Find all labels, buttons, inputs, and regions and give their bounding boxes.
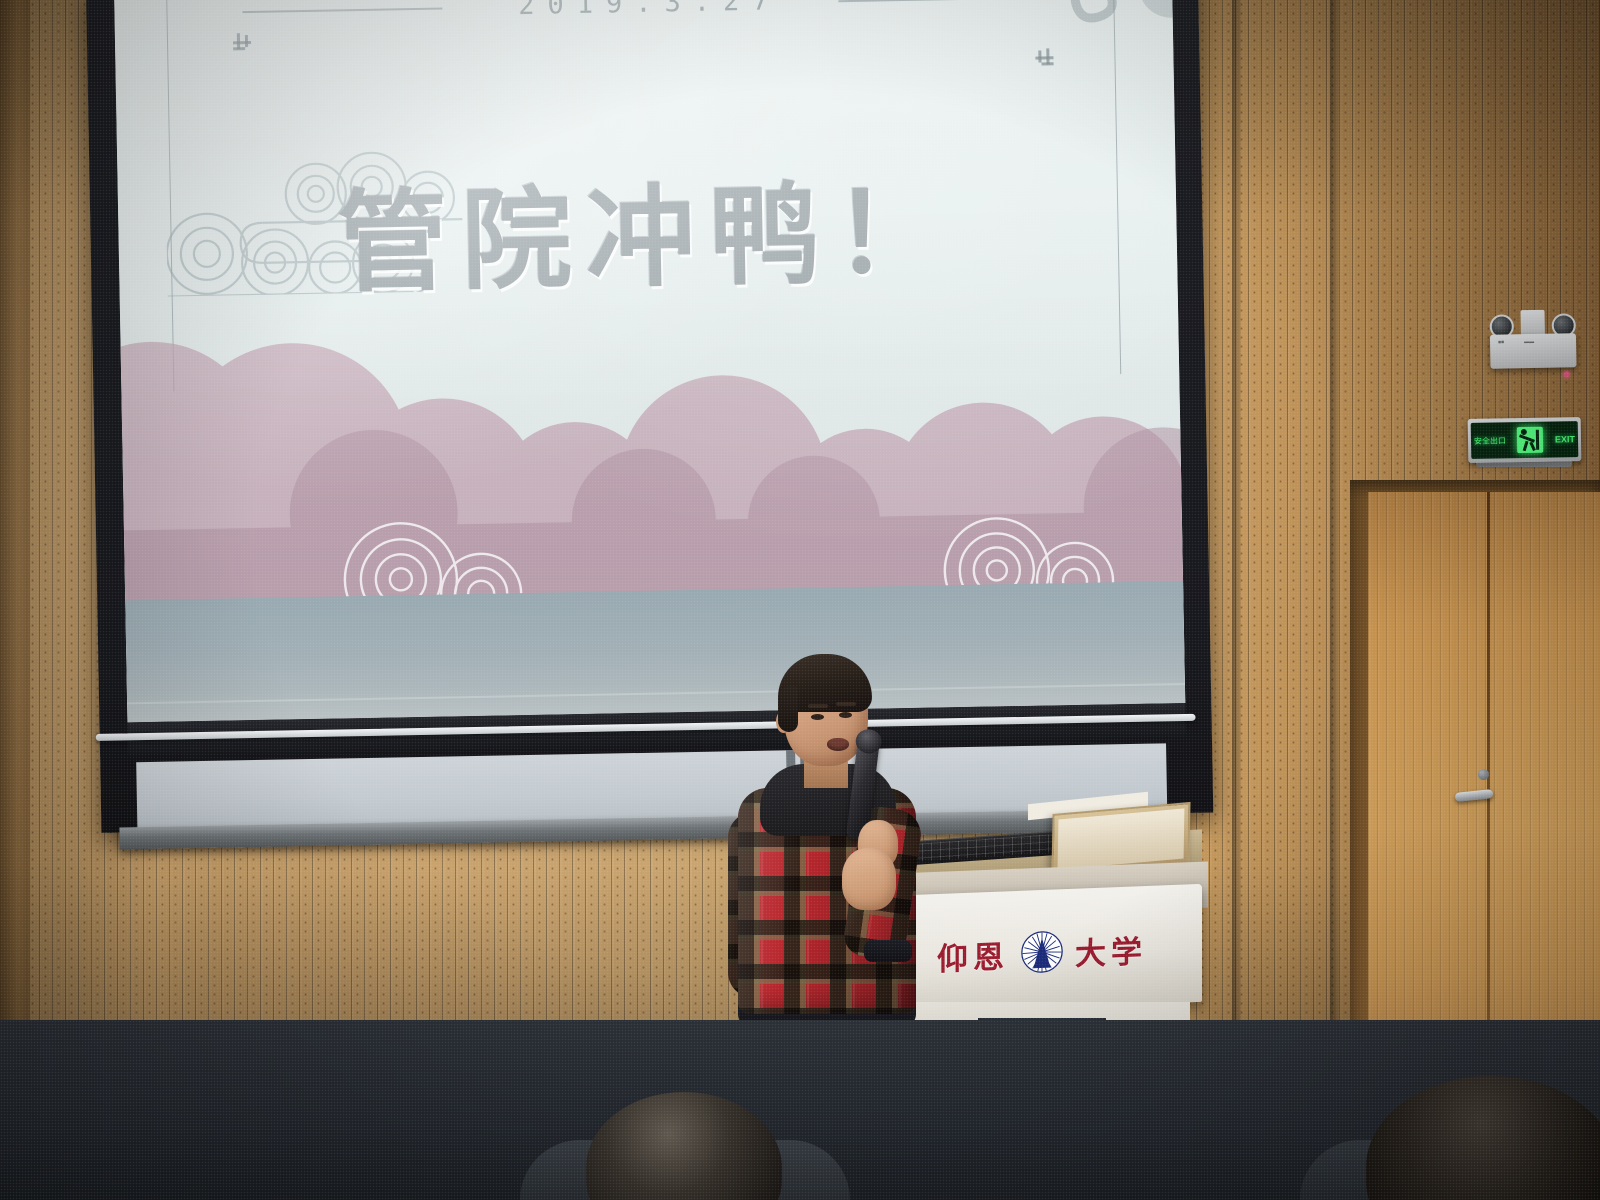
- university-name-right: 大学: [1075, 925, 1147, 973]
- speaker-eye-left: [811, 714, 824, 720]
- laptop-screen: [1058, 808, 1185, 869]
- speaker-hand-lower: [842, 848, 896, 910]
- exit-sign: 安全出口 EXIT: [1468, 417, 1582, 463]
- speaker-mouth: [827, 738, 849, 751]
- speaker-hair-side: [778, 686, 798, 732]
- emergency-status-led-icon: [1564, 371, 1570, 377]
- emergency-light-body: ■■ ▬▬: [1490, 333, 1577, 368]
- emergency-light-bracket: [1520, 310, 1544, 336]
- exit-sign-cn-label: 安全出口: [1474, 435, 1506, 447]
- microphone-head-icon: [854, 728, 883, 755]
- emergency-light-unit: ■■ ▬▬: [1490, 309, 1577, 368]
- university-name-left: 仰恩: [937, 931, 1009, 979]
- hoodie-cuff: [864, 940, 912, 962]
- pink-cloud-mounds: [120, 285, 1183, 604]
- door-lock-icon[interactable]: [1478, 769, 1489, 780]
- exit-sign-en-label: EXIT: [1555, 434, 1575, 444]
- speaker-brow-right: [836, 702, 856, 706]
- speaker-brow-left: [808, 704, 828, 708]
- projection-screen-surface: 2019.3.27: [114, 0, 1185, 722]
- projection-screen-assembly: 2019.3.27: [86, 0, 1213, 833]
- exit-sign-face: 安全出口 EXIT: [1471, 421, 1579, 459]
- corner-ornament-left-icon: [233, 33, 260, 63]
- speaker-eye-right: [839, 712, 852, 718]
- emergency-light-model: ▬▬: [1524, 339, 1534, 345]
- running-man-icon: [1517, 427, 1543, 453]
- emergency-light-label: ■■: [1498, 340, 1504, 346]
- water-highlight: [127, 683, 1185, 704]
- slide-canvas: 2019.3.27: [114, 0, 1185, 722]
- water-band: [125, 581, 1185, 722]
- sunburst-emblem-icon: [1021, 930, 1063, 974]
- photo-scene: ■■ ▬▬ 安全出口 EXIT: [0, 0, 1600, 1200]
- xiangyun-cloud-top-right-icon: [1035, 0, 1185, 59]
